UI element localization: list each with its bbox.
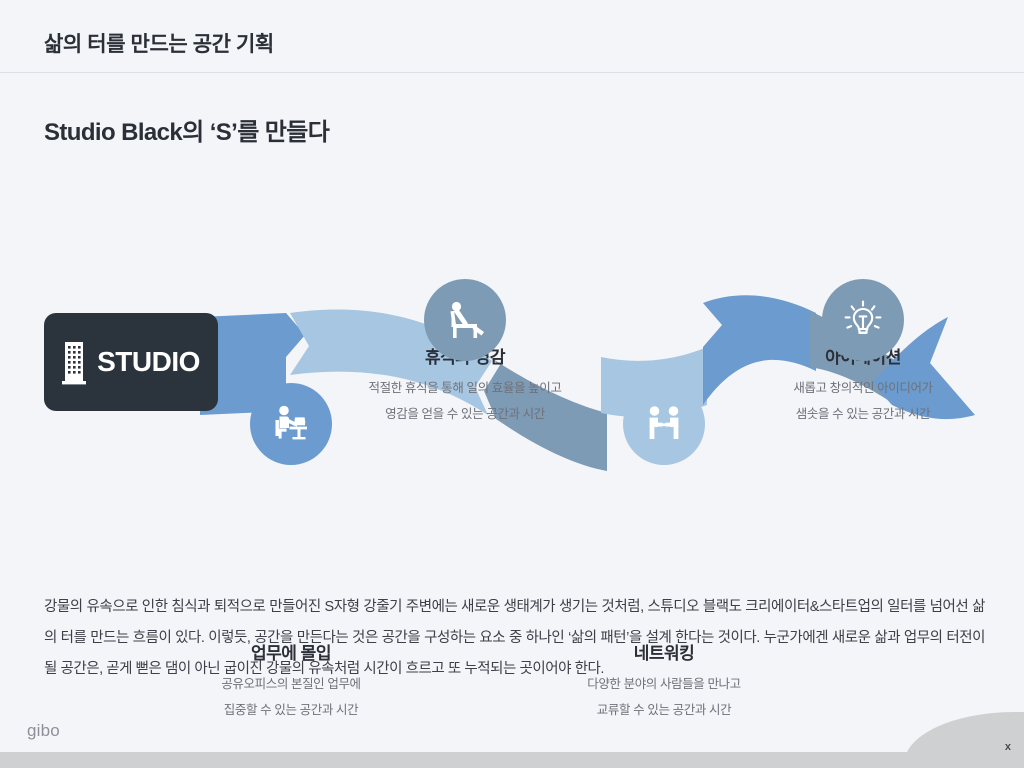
handshake-icon <box>640 400 688 448</box>
caption-focus-line2: 집중할 수 있는 공간과 시간 <box>171 699 411 718</box>
caption-rest-line2: 영감을 얻을 수 있는 공간과 시간 <box>345 403 585 422</box>
slide-header: 삶의 터를 만드는 공간 기획 <box>0 0 1024 73</box>
building-icon <box>62 339 88 385</box>
process-diagram: 휴식과 영감 적절한 휴식을 통해 일의 효율을 높이고 영감을 얻을 수 있는… <box>0 165 1024 575</box>
gibo-watermark: gibo <box>27 721 60 741</box>
bottom-bar <box>0 752 1024 768</box>
caption-rest-line1: 적절한 휴식을 통해 일의 효율을 높이고 <box>345 377 585 396</box>
close-icon[interactable]: x <box>1005 742 1011 753</box>
icon-circle-focus <box>250 383 332 465</box>
body-paragraph: 강물의 유속으로 인한 침식과 퇴적으로 만들어진 S자형 강줄기 주변에는 새… <box>44 592 985 685</box>
person-at-desk-icon <box>267 400 315 448</box>
lightbulb-icon <box>839 296 887 344</box>
person-in-lounge-chair-icon <box>442 297 488 343</box>
caption-ideation-line2: 샘솟을 수 있는 공간과 시간 <box>743 403 983 422</box>
section-subtitle: Studio Black의 ‘S’를 만들다 <box>44 112 329 147</box>
caption-ideation-line1: 새롭고 창의적인 아이디어가 <box>743 377 983 396</box>
icon-circle-rest <box>424 279 506 361</box>
icon-circle-network <box>623 383 705 465</box>
icon-circle-ideation <box>822 279 904 361</box>
page-title: 삶의 터를 만드는 공간 기획 <box>44 28 274 58</box>
studio-badge: STUDIO <box>44 313 218 411</box>
caption-network-line2: 교류할 수 있는 공간과 시간 <box>544 699 784 718</box>
corner-curl-fill <box>904 712 1024 768</box>
slide-canvas: 삶의 터를 만드는 공간 기획 Studio Black의 ‘S’를 만들다 휴… <box>0 0 1024 768</box>
studio-wordmark: STUDIO <box>97 348 200 376</box>
corner-curl <box>904 712 1024 768</box>
